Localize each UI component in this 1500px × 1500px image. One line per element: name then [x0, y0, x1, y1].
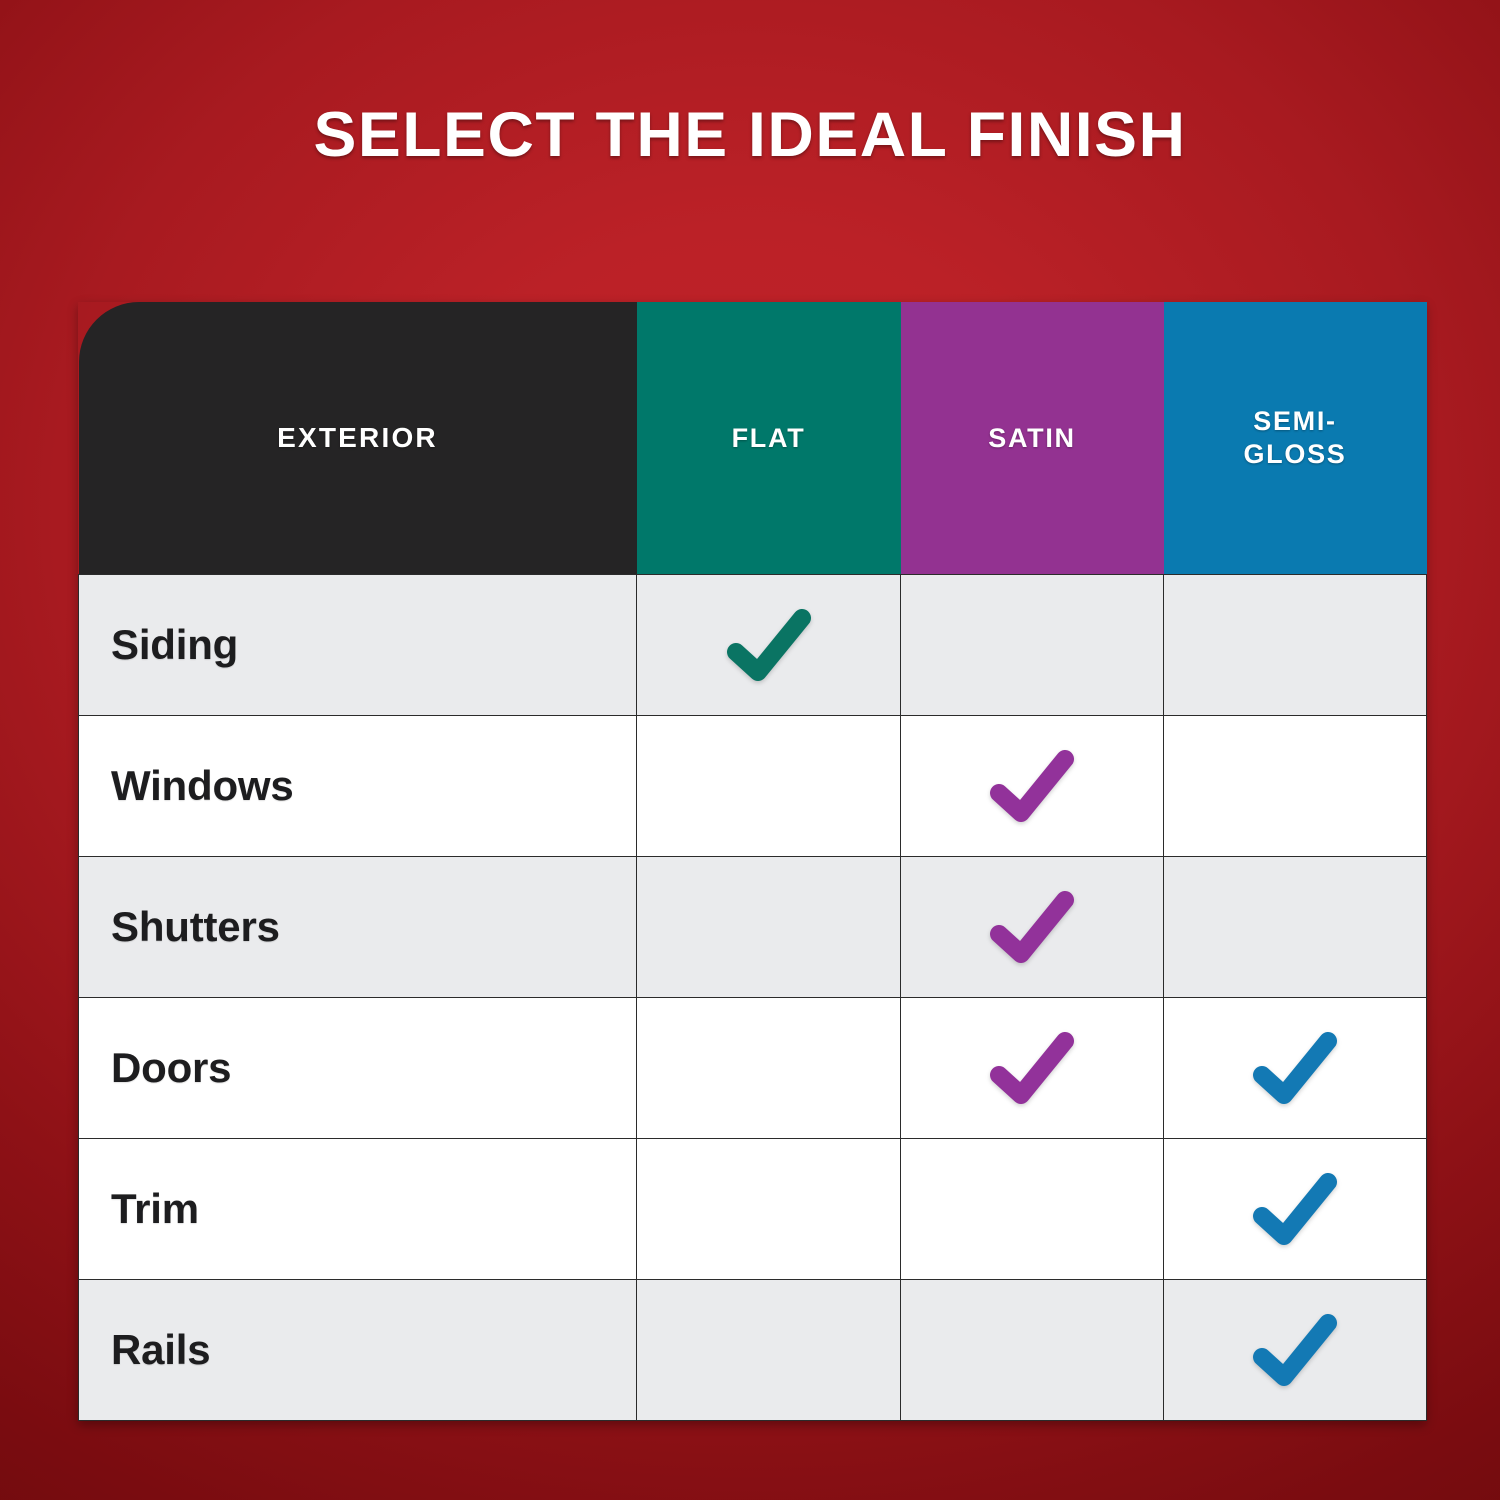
cell-shutters-satin[interactable] — [901, 857, 1164, 998]
cell-rails-flat[interactable] — [637, 1280, 901, 1421]
check-icon — [1252, 1311, 1338, 1389]
table-row: Trim — [79, 1139, 1427, 1280]
cell-trim-flat[interactable] — [637, 1139, 901, 1280]
check-icon — [1252, 1170, 1338, 1248]
cell-siding-satin[interactable] — [901, 575, 1164, 716]
row-label-siding: Siding — [79, 575, 637, 716]
check-icon — [989, 747, 1075, 825]
table-header-row: EXTERIOR FLAT SATIN SEMI- GLOSS — [79, 302, 1427, 575]
cell-doors-flat[interactable] — [637, 998, 901, 1139]
column-header-semi-gloss-line2: GLOSS — [1243, 439, 1346, 469]
finish-comparison-table: EXTERIOR FLAT SATIN SEMI- GLOSS SidingWi… — [78, 302, 1427, 1421]
finish-comparison-table-wrapper: EXTERIOR FLAT SATIN SEMI- GLOSS SidingWi… — [78, 302, 1426, 1421]
row-label-doors: Doors — [79, 998, 637, 1139]
table-row: Windows — [79, 716, 1427, 857]
table-row: Doors — [79, 998, 1427, 1139]
cell-shutters-flat[interactable] — [637, 857, 901, 998]
table-header: EXTERIOR FLAT SATIN SEMI- GLOSS — [79, 302, 1427, 575]
column-header-flat: FLAT — [637, 302, 901, 575]
cell-siding-semi-gloss[interactable] — [1164, 575, 1427, 716]
check-icon — [726, 606, 812, 684]
cell-siding-flat[interactable] — [637, 575, 901, 716]
check-icon — [989, 1029, 1075, 1107]
cell-shutters-semi-gloss[interactable] — [1164, 857, 1427, 998]
check-icon — [989, 888, 1075, 966]
cell-trim-semi-gloss[interactable] — [1164, 1139, 1427, 1280]
row-label-windows: Windows — [79, 716, 637, 857]
page-title: SELECT THE IDEAL FINISH — [0, 104, 1500, 167]
column-header-satin: SATIN — [901, 302, 1164, 575]
cell-rails-satin[interactable] — [901, 1280, 1164, 1421]
cell-rails-semi-gloss[interactable] — [1164, 1280, 1427, 1421]
row-label-trim: Trim — [79, 1139, 637, 1280]
cell-doors-semi-gloss[interactable] — [1164, 998, 1427, 1139]
column-header-exterior: EXTERIOR — [79, 302, 637, 575]
cell-windows-satin[interactable] — [901, 716, 1164, 857]
column-header-semi-gloss-line1: SEMI- — [1253, 406, 1337, 436]
infographic-page: SELECT THE IDEAL FINISH EXTERIOR FLAT SA… — [0, 0, 1500, 1500]
row-label-shutters: Shutters — [79, 857, 637, 998]
column-header-semi-gloss: SEMI- GLOSS — [1164, 302, 1427, 575]
cell-trim-satin[interactable] — [901, 1139, 1164, 1280]
cell-windows-semi-gloss[interactable] — [1164, 716, 1427, 857]
row-label-rails: Rails — [79, 1280, 637, 1421]
table-body: SidingWindowsShuttersDoorsTrimRails — [79, 575, 1427, 1421]
cell-doors-satin[interactable] — [901, 998, 1164, 1139]
table-row: Rails — [79, 1280, 1427, 1421]
table-row: Siding — [79, 575, 1427, 716]
check-icon — [1252, 1029, 1338, 1107]
cell-windows-flat[interactable] — [637, 716, 901, 857]
table-row: Shutters — [79, 857, 1427, 998]
